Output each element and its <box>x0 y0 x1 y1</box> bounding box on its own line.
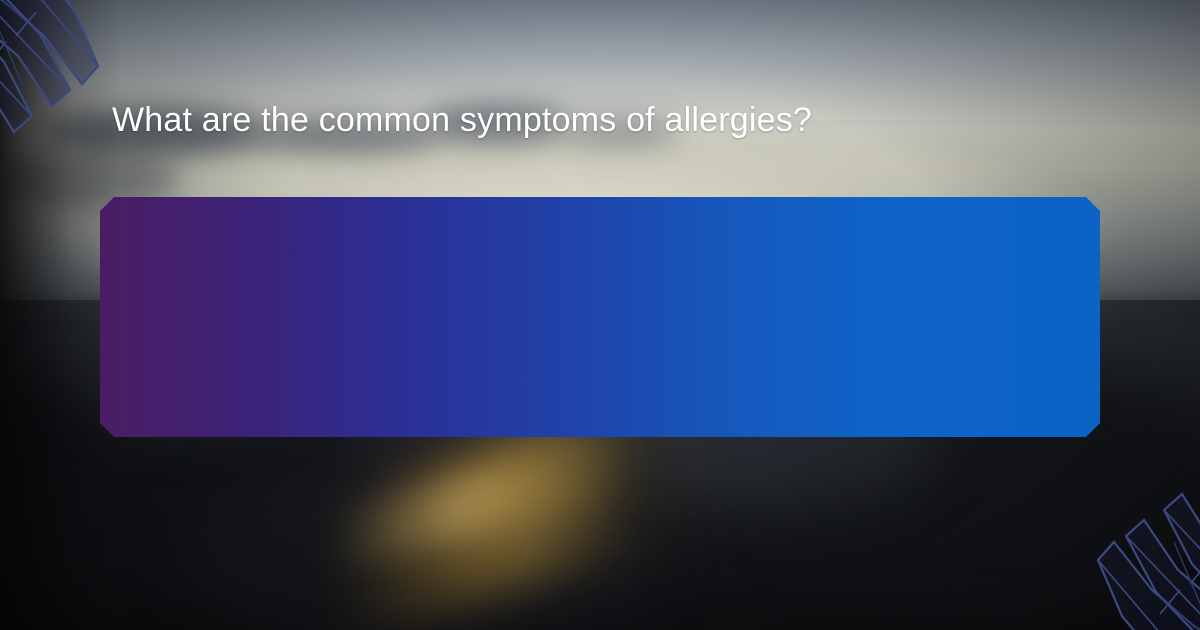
social-share-card: What are the common symptoms of allergie… <box>0 0 1200 630</box>
headline-text: What are the common symptoms of allergie… <box>112 0 912 240</box>
